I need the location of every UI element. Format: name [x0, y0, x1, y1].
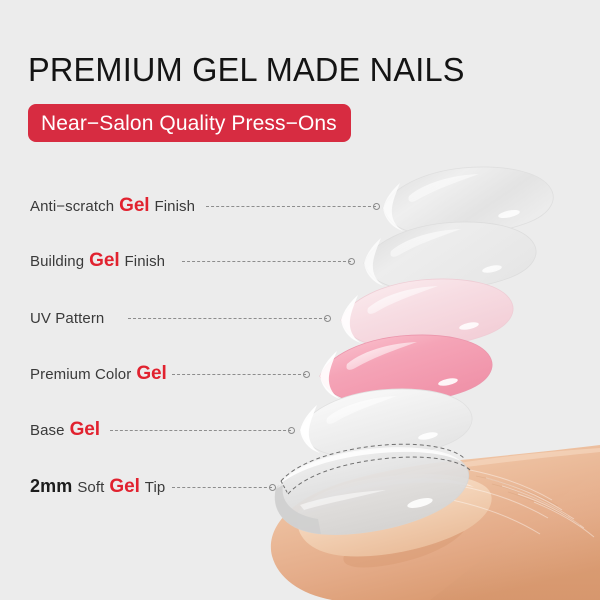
callout-uv-pattern: UV Pattern — [0, 305, 104, 331]
product-infographic: PREMIUM GEL MADE NAILS Near−Salon Qualit… — [0, 0, 600, 600]
callout-building-gel-finish: BuildingGelFinish — [0, 248, 165, 274]
callout-word: Finish — [154, 198, 195, 215]
layer-building-gel-finish — [364, 222, 536, 291]
callout-premium-color-gel: Premium ColorGel — [0, 361, 167, 387]
subtitle-badge-label: Near−Salon Quality Press−Ons — [41, 113, 337, 134]
callout-word: Anti−scratch — [30, 198, 114, 215]
callout-label: Anti−scratchGelFinish — [30, 195, 195, 217]
leader-line — [128, 318, 327, 320]
callout-word: UV Pattern — [30, 310, 104, 327]
leader-endpoint-dot — [269, 484, 276, 491]
leader-endpoint-dot — [324, 315, 331, 322]
callout-word-measure: 2mm — [30, 476, 72, 497]
callout-label: 2mmSoftGelTip — [30, 476, 165, 498]
callout-word: Premium Color — [30, 366, 131, 383]
callout-word-gel: Gel — [89, 250, 119, 272]
callout-word: Soft — [77, 479, 104, 496]
callout-word-gel: Gel — [136, 363, 166, 385]
leader-line — [206, 206, 376, 208]
layer-anti-scratch-gel-finish — [383, 167, 553, 236]
layer-base-gel — [300, 389, 472, 458]
callout-word: Tip — [145, 479, 166, 496]
layer-uv-pattern — [341, 279, 513, 348]
callout-anti-scratch-gel-finish: Anti−scratchGelFinish — [0, 193, 195, 219]
callout-word-gel: Gel — [70, 419, 100, 441]
leader-endpoint-dot — [348, 258, 355, 265]
leader-endpoint-dot — [303, 371, 310, 378]
leader-endpoint-dot — [288, 427, 295, 434]
leader-endpoint-dot — [373, 203, 380, 210]
nail-layers-illustration — [0, 0, 600, 600]
callout-word: Finish — [125, 253, 166, 270]
leader-line — [110, 430, 291, 432]
callout-2mm-soft-gel-tip: 2mmSoftGelTip — [0, 474, 165, 500]
leader-line — [172, 487, 272, 489]
callout-word-gel: Gel — [119, 195, 149, 217]
callout-base-gel: BaseGel — [0, 417, 100, 443]
callout-label: BuildingGelFinish — [30, 250, 165, 272]
callout-word: Building — [30, 253, 84, 270]
fingertip — [271, 445, 600, 600]
callout-word-gel: Gel — [109, 476, 139, 498]
callout-label: Premium ColorGel — [30, 363, 167, 385]
callout-label: BaseGel — [30, 419, 100, 441]
layer-soft-gel-tip — [275, 444, 470, 534]
leader-line — [182, 261, 351, 263]
leader-line — [172, 374, 306, 376]
page-title: PREMIUM GEL MADE NAILS — [28, 51, 465, 89]
callout-word: Base — [30, 422, 65, 439]
callout-label: UV Pattern — [30, 310, 104, 327]
layer-premium-color-gel — [320, 335, 492, 404]
subtitle-badge: Near−Salon Quality Press−Ons — [28, 104, 351, 142]
